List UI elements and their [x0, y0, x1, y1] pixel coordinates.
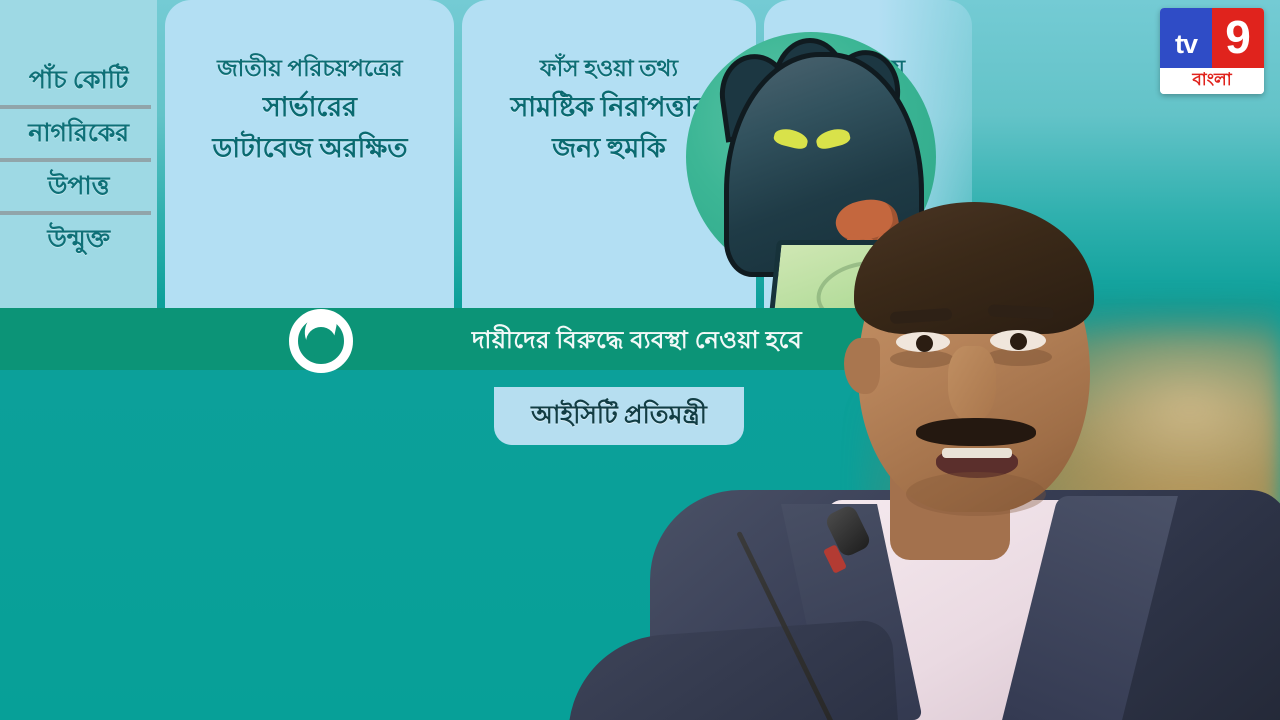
speaker-pupil-right — [1010, 333, 1027, 350]
speaker-teeth — [942, 448, 1012, 458]
citizen-line-3: উপাত্ত — [0, 164, 157, 209]
tv9-logo-blue-half: tv — [1160, 8, 1212, 68]
droplet-ring-logo-icon — [289, 309, 353, 373]
tv9-nine-text: 9 — [1225, 14, 1251, 60]
divider-2 — [0, 158, 151, 162]
nid-line-3: ডাটাবেজ অরক্ষিত — [212, 128, 407, 169]
speaker-nose — [948, 346, 996, 422]
nid-line-1: জাতীয় পরিচয়পত্রের — [217, 56, 403, 81]
speaker-undereye-left — [890, 350, 954, 368]
news-graphic-screenshot: পাঁচ কোটি নাগরিকের উপাত্ত উন্মুক্ত জাতীয… — [0, 0, 1280, 720]
speaker-pupil-left — [916, 335, 933, 352]
divider-1 — [0, 105, 151, 109]
panel-nid-server: জাতীয় পরিচয়পত্রের সার্ভারের ডাটাবেজ অর… — [165, 0, 454, 308]
logo-inner-cut — [306, 327, 336, 357]
tv9-bangla-logo: tv 9 বাংলা — [1160, 8, 1264, 94]
nid-server-text: জাতীয় পরিচয়পত্রের সার্ভারের ডাটাবেজ অর… — [198, 0, 421, 169]
citizen-data-stack: পাঁচ কোটি নাগরিকের উপাত্ত উন্মুক্ত — [0, 0, 157, 262]
speaker-chin — [906, 472, 1046, 516]
speaker-arm-left — [562, 619, 909, 720]
tv9-logo-red-half: 9 — [1212, 8, 1264, 68]
divider-3 — [0, 211, 151, 215]
citizen-line-2: নাগরিকের — [0, 111, 157, 156]
speaker-ear — [844, 338, 880, 394]
panel-citizen-data: পাঁচ কোটি নাগরিকের উপাত্ত উন্মুক্ত — [0, 0, 157, 308]
tv9-logo-top: tv 9 — [1160, 8, 1264, 68]
citizen-line-1: পাঁচ কোটি — [0, 58, 157, 103]
citizen-line-4: উন্মুক্ত — [0, 217, 157, 262]
nid-line-2: সার্ভারের — [212, 87, 407, 128]
speaker-mustache — [916, 418, 1036, 446]
speaker-eye-left — [896, 332, 950, 352]
tv9-tv-text: tv — [1175, 29, 1197, 60]
press-conference-speaker — [590, 160, 1280, 720]
tv9-bangla-text: বাংলা — [1160, 68, 1264, 94]
speaker-eye-right — [990, 330, 1046, 351]
